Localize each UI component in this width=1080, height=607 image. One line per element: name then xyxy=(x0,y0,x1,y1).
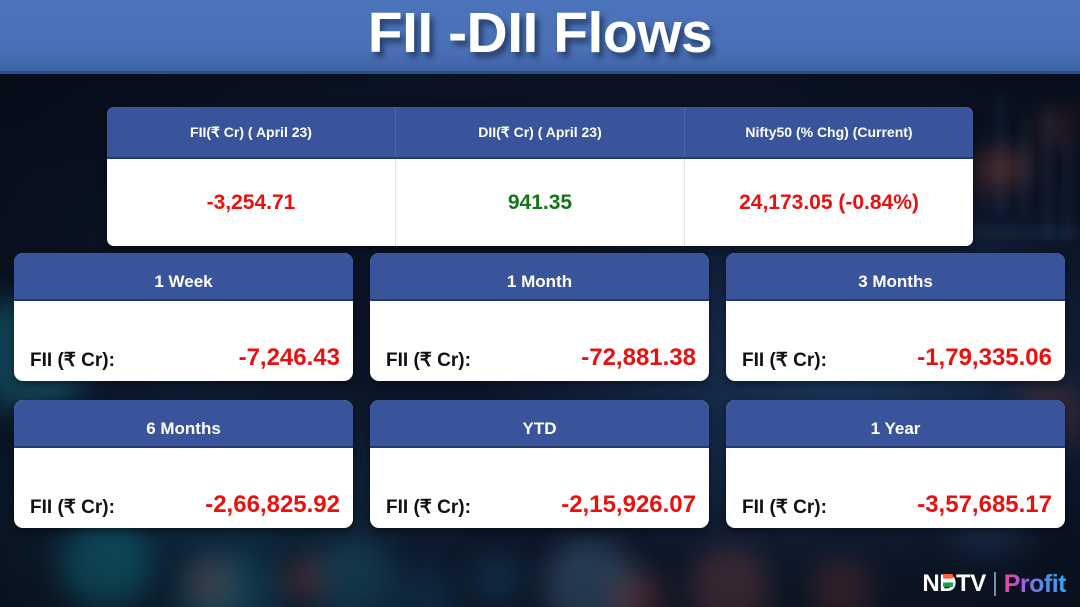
candlestick-silhouette xyxy=(960,230,1080,235)
period-card-title: 1 Year xyxy=(726,400,1065,448)
candlestick-silhouette xyxy=(998,95,1003,215)
page-title: FII -DII Flows xyxy=(368,5,713,62)
period-card-value: -7,246.43 xyxy=(239,344,340,372)
summary-header-dii: DII(₹ Cr) ( April 23) xyxy=(396,107,685,157)
period-card-value: -2,15,926.07 xyxy=(561,491,696,519)
bokeh-circle xyxy=(185,558,233,606)
period-card-body: FII (₹ Cr): -72,881.38 xyxy=(370,301,709,381)
period-card-body: FII (₹ Cr): -2,66,825.92 xyxy=(14,448,353,528)
ndtv-profit-logo: NDTV Profit xyxy=(922,569,1066,599)
bokeh-circle xyxy=(390,570,460,607)
summary-value-fii: -3,254.71 xyxy=(107,159,396,246)
bokeh-circle xyxy=(812,560,872,607)
logo-divider xyxy=(994,572,996,596)
period-card-label: FII (₹ Cr): xyxy=(30,349,115,372)
period-card-1-week: 1 Week FII (₹ Cr): -7,246.43 xyxy=(14,253,353,381)
summary-header-nifty50: Nifty50 (% Chg) (Current) xyxy=(685,107,973,157)
period-card-body: FII (₹ Cr): -1,79,335.06 xyxy=(726,301,1065,381)
period-card-3-months: 3 Months FII (₹ Cr): -1,79,335.06 xyxy=(726,253,1065,381)
bokeh-circle xyxy=(690,548,770,607)
period-card-title: 1 Month xyxy=(370,253,709,301)
period-card-label: FII (₹ Cr): xyxy=(386,496,471,519)
summary-header-fii: FII(₹ Cr) ( April 23) xyxy=(107,107,396,157)
candlestick-silhouette xyxy=(1022,120,1027,215)
bokeh-circle xyxy=(60,520,150,607)
period-card-label: FII (₹ Cr): xyxy=(30,496,115,519)
logo-brand-text: NDTV xyxy=(922,570,985,598)
period-card-title: 6 Months xyxy=(14,400,353,448)
tricolor-accent-icon xyxy=(943,574,953,587)
period-card-label: FII (₹ Cr): xyxy=(386,349,471,372)
period-card-label: FII (₹ Cr): xyxy=(742,349,827,372)
period-card-body: FII (₹ Cr): -7,246.43 xyxy=(14,301,353,381)
candlestick-silhouette xyxy=(1065,140,1070,240)
period-card-value: -72,881.38 xyxy=(581,344,696,372)
summary-table-value-row: -3,254.71 941.35 24,173.05 (-0.84%) xyxy=(107,159,973,246)
period-card-title: 1 Week xyxy=(14,253,353,301)
summary-table: FII(₹ Cr) ( April 23) DII(₹ Cr) ( April … xyxy=(107,107,973,246)
period-card-ytd: YTD FII (₹ Cr): -2,15,926.07 xyxy=(370,400,709,528)
period-cards-grid: 1 Week FII (₹ Cr): -7,246.43 1 Month FII… xyxy=(14,253,1066,528)
period-card-title: 3 Months xyxy=(726,253,1065,301)
summary-table-header-row: FII(₹ Cr) ( April 23) DII(₹ Cr) ( April … xyxy=(107,107,973,159)
candlestick-silhouette xyxy=(1046,105,1051,240)
period-card-1-year: 1 Year FII (₹ Cr): -3,57,685.17 xyxy=(726,400,1065,528)
period-card-value: -2,66,825.92 xyxy=(205,491,340,519)
period-card-value: -3,57,685.17 xyxy=(917,491,1052,519)
bokeh-circle xyxy=(285,560,325,600)
bokeh-circle xyxy=(470,555,522,607)
summary-value-dii: 941.35 xyxy=(396,159,685,246)
period-card-1-month: 1 Month FII (₹ Cr): -72,881.38 xyxy=(370,253,709,381)
title-banner: FII -DII Flows xyxy=(0,0,1080,74)
period-card-body: FII (₹ Cr): -2,15,926.07 xyxy=(370,448,709,528)
period-card-title: YTD xyxy=(370,400,709,448)
summary-value-nifty50: 24,173.05 (-0.84%) xyxy=(685,159,973,246)
bokeh-circle xyxy=(1008,152,1034,178)
period-card-label: FII (₹ Cr): xyxy=(742,496,827,519)
period-card-body: FII (₹ Cr): -3,57,685.17 xyxy=(726,448,1065,528)
period-card-value: -1,79,335.06 xyxy=(917,344,1052,372)
logo-product-text: Profit xyxy=(1004,570,1066,599)
period-card-6-months: 6 Months FII (₹ Cr): -2,66,825.92 xyxy=(14,400,353,528)
